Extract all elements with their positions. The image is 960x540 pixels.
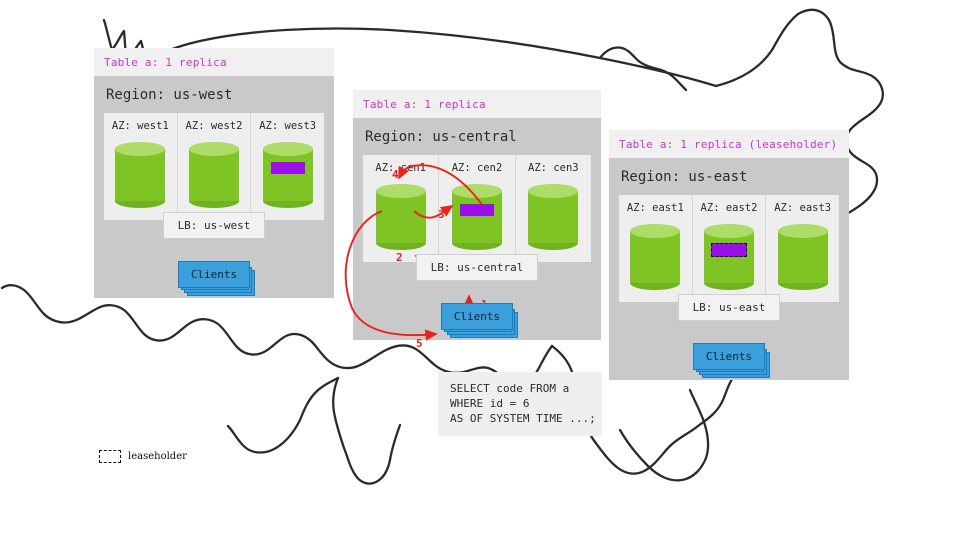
az-row-us-west: AZ: west1 AZ: west2 AZ [104,113,324,220]
clients-stack-us-central[interactable]: Clients [441,303,513,330]
node-cylinder-cen3[interactable] [528,184,578,250]
cylinder-top [778,224,828,238]
az-east2[interactable]: AZ: east2 [693,195,767,302]
node-cylinder-cen1[interactable] [376,184,426,250]
az-label-east1: AZ: east1 [627,202,684,214]
cylinder-body [704,231,754,283]
clients-row-us-central: Clients [353,303,601,330]
az-label-east3: AZ: east3 [774,202,831,214]
region-title-us-central: Region: us-central [353,118,601,155]
load-balancer-us-east[interactable]: LB: us-east [678,294,781,321]
az-west2[interactable]: AZ: west2 [178,113,252,220]
flow-step-label-5: 5 [416,337,423,350]
cylinder-top [263,142,313,156]
cylinder-body [452,191,502,243]
clients-row-us-west: Clients [94,261,334,288]
leaseholder-swatch-icon [99,450,121,463]
az-row-us-east: AZ: east1 AZ: east2 [619,195,839,302]
flow-step-label-2: 2 [396,251,403,264]
node-cylinder-west1[interactable] [115,142,165,208]
az-east1[interactable]: AZ: east1 [619,195,693,302]
region-header-us-east: Table a: 1 replica (leaseholder) [609,130,849,158]
legend: leaseholder [99,450,187,463]
az-west3[interactable]: AZ: west3 [251,113,324,220]
cylinder-body [630,231,680,283]
node-cylinder-cen2[interactable] [452,184,502,250]
cylinder-top [115,142,165,156]
az-label-cen3: AZ: cen3 [528,162,579,174]
cylinder-top [704,224,754,238]
region-title-us-east: Region: us-east [609,158,849,195]
load-balancer-us-central[interactable]: LB: us-central [416,254,539,281]
region-panel-us-central: Table a: 1 replica Region: us-central AZ… [353,90,601,340]
region-header-us-west: Table a: 1 replica [94,48,334,76]
node-cylinder-east1[interactable] [630,224,680,290]
region-header-us-central: Table a: 1 replica [353,90,601,118]
az-cen2[interactable]: AZ: cen2 [439,155,515,262]
region-panel-us-east: Table a: 1 replica (leaseholder) Region:… [609,130,849,380]
flow-step-label-3: 3 [438,208,445,221]
node-cylinder-west3[interactable] [263,142,313,208]
node-cylinder-east2[interactable] [704,224,754,290]
cylinder-body [778,231,828,283]
cylinder-top [630,224,680,238]
az-west1[interactable]: AZ: west1 [104,113,178,220]
az-label-west1: AZ: west1 [112,120,169,132]
cylinder-body [115,149,165,201]
clients-label-us-west[interactable]: Clients [178,261,250,288]
az-label-cen1: AZ: cen1 [375,162,426,174]
region-panel-us-west: Table a: 1 replica Region: us-west AZ: w… [94,48,334,298]
az-label-west2: AZ: west2 [186,120,243,132]
load-balancer-us-west[interactable]: LB: us-west [163,212,266,239]
az-cen3[interactable]: AZ: cen3 [516,155,591,262]
clients-row-us-east: Clients [609,343,849,370]
az-label-east2: AZ: east2 [701,202,758,214]
az-cen1[interactable]: AZ: cen1 [363,155,439,262]
cylinder-body [376,191,426,243]
cylinder-top [189,142,239,156]
cylinder-body [263,149,313,201]
clients-stack-us-west[interactable]: Clients [178,261,250,288]
sql-query-box: SELECT code FROM a WHERE id = 6 AS OF SY… [438,372,602,436]
clients-label-us-central[interactable]: Clients [441,303,513,330]
region-body-us-east: Region: us-east AZ: east1 AZ: east2 [609,158,849,380]
region-body-us-west: Region: us-west AZ: west1 AZ: west2 [94,76,334,298]
cylinder-body [528,191,578,243]
cylinder-top [376,184,426,198]
clients-stack-us-east[interactable]: Clients [693,343,765,370]
region-title-us-west: Region: us-west [94,76,334,113]
diagram-canvas: Table a: 1 replica Region: us-west AZ: w… [0,0,960,540]
replica-marker-leaseholder-east2[interactable] [711,243,747,257]
cylinder-top [452,184,502,198]
replica-marker-west3[interactable] [271,162,305,174]
replica-marker-cen2[interactable] [460,204,494,216]
node-cylinder-east3[interactable] [778,224,828,290]
az-label-west3: AZ: west3 [259,120,316,132]
cylinder-body [189,149,239,201]
region-body-us-central: Region: us-central AZ: cen1 AZ: cen2 [353,118,601,340]
az-label-cen2: AZ: cen2 [452,162,503,174]
az-east3[interactable]: AZ: east3 [766,195,839,302]
cylinder-top [528,184,578,198]
legend-label: leaseholder [128,451,187,462]
flow-step-label-4: 4 [392,168,399,181]
clients-label-us-east[interactable]: Clients [693,343,765,370]
node-cylinder-west2[interactable] [189,142,239,208]
